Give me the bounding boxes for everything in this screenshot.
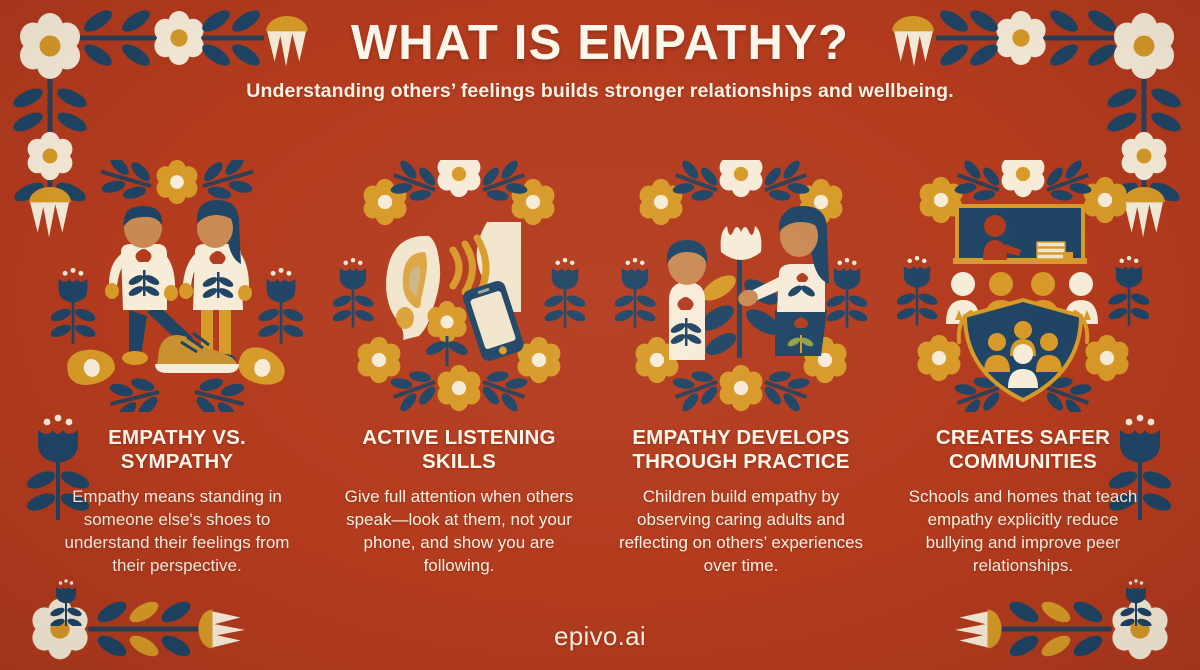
page-subtitle: Understanding others’ feelings builds st…: [0, 80, 1200, 103]
poster-header: WHAT IS EMPATHY? Understanding others’ f…: [0, 18, 1200, 103]
column-empathy-develops: EMPATHY DEVELOPS THROUGH PRACTICE Childr…: [600, 160, 882, 578]
infographic-poster: WHAT IS EMPATHY? Understanding others’ f…: [0, 0, 1200, 670]
two-children-with-shoe-illustration: [51, 160, 303, 412]
content-columns: EMPATHY VS. SYMPATHY Empathy means stand…: [36, 160, 1164, 578]
blackboard-icon: [953, 206, 1087, 264]
child-figure: [667, 240, 707, 360]
adult-child-tending-flower-illustration: [615, 160, 867, 412]
column-body: Give full attention when others speak—lo…: [335, 485, 583, 578]
column-heading: EMPATHY VS. SYMPATHY: [52, 426, 302, 474]
column-body: Children build empathy by observing cari…: [617, 485, 865, 578]
page-title: WHAT IS EMPATHY?: [0, 18, 1200, 70]
brand-label: epivo.ai: [554, 621, 646, 651]
column-heading: EMPATHY DEVELOPS THROUGH PRACTICE: [616, 426, 866, 474]
column-heading: ACTIVE LISTENING SKILLS: [334, 426, 584, 474]
classroom-shield-community-illustration: [897, 160, 1149, 412]
column-body: Schools and homes that teach empathy exp…: [899, 485, 1147, 578]
poster-footer: epivo.ai: [0, 621, 1200, 652]
column-safer-communities: CREATES SAFER COMMUNITIES Schools and ho…: [882, 160, 1164, 578]
column-body: Empathy means standing in someone else's…: [53, 485, 301, 578]
column-empathy-vs-sympathy: EMPATHY VS. SYMPATHY Empathy means stand…: [36, 160, 318, 578]
column-active-listening: ACTIVE LISTENING SKILLS Give full attent…: [318, 160, 600, 578]
ear-speaking-face-phone-illustration: [333, 160, 585, 412]
column-heading: CREATES SAFER COMMUNITIES: [898, 426, 1148, 474]
